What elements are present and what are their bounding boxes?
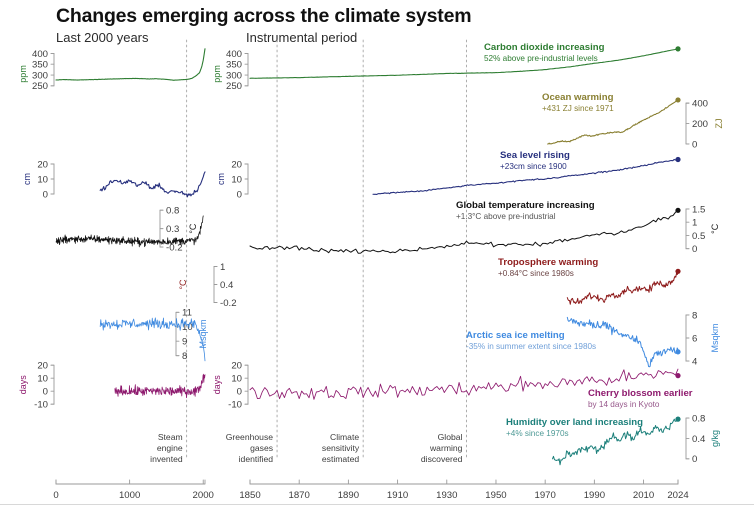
sealevel-endpoint-dot <box>675 157 680 162</box>
co2-line-inst <box>250 49 678 78</box>
event-label-greenhouse-gases: identified <box>239 454 274 464</box>
gmst-unit-right: °C <box>710 223 720 234</box>
event-label-climate-sensitivity: sensitivity <box>322 443 360 453</box>
humidity-tick-label-0: 0.8 <box>692 413 705 424</box>
ocean-annotation-title: Ocean warming <box>542 92 614 103</box>
footer-divider <box>0 504 754 505</box>
cherry-annotation-title: Cherry blossom earlier <box>588 388 693 399</box>
humidity-tick-label-2: 0 <box>692 454 697 465</box>
seaice-right-tick-label-0: 8 <box>692 310 697 321</box>
humidity-tick-label-1: 0.4 <box>692 434 706 445</box>
seaice-annotation-subtitle: -35% in summer extent since 1980s <box>466 342 596 351</box>
event-label-global-warming: discovered <box>421 454 463 464</box>
ocean-endpoint-dot <box>675 97 680 102</box>
xaxis-right-tick-label-9: 2024 <box>667 490 689 501</box>
ocean-tick-label-2: 0 <box>692 139 697 150</box>
gmst-right-tick-label-1: 1 <box>692 218 697 229</box>
climate-multi-panel-plot: SteamengineinventedGreenhousegasesidenti… <box>0 0 754 514</box>
seaice-right-tick-label-2: 4 <box>692 356 698 367</box>
cherry-endpoint-dot <box>675 373 680 378</box>
gmst-left-tick-label-0: 0.8 <box>166 206 179 217</box>
seaice-right-tick-label-1: 6 <box>692 333 697 344</box>
co2-left-tick-label-0: 400 <box>32 49 48 60</box>
xaxis-right-line <box>250 480 678 484</box>
ocean-tick-label-1: 200 <box>692 119 708 130</box>
event-label-steam-engine: Steam <box>158 432 183 442</box>
cherry-unit-left: days <box>18 375 28 395</box>
humidity-unit: g/kg <box>710 430 720 447</box>
co2-unit-left: ppm <box>18 65 28 83</box>
seaice-left-tick-label-1: 10 <box>182 322 193 333</box>
sealevel-annotation-title: Sea level rising <box>500 150 570 161</box>
sealevel-left-tick-label-1: 10 <box>37 174 48 185</box>
event-label-global-warming: warming <box>429 443 463 453</box>
xaxis-left-line <box>56 480 205 484</box>
co2-line-long <box>56 49 205 81</box>
co2-annotation-subtitle: 52% above pre-industrial levels <box>484 54 598 63</box>
xaxis-right-tick-label-1: 1870 <box>289 490 310 501</box>
sealevel-annotation-subtitle: +23cm since 1900 <box>500 162 567 171</box>
sealevel-right-tick-label-1: 10 <box>231 174 242 185</box>
troposphere-unit-left: °C <box>178 279 188 290</box>
seaice-left-tick-label-0: 11 <box>182 308 192 319</box>
co2-right-tick-label-0: 400 <box>226 49 242 60</box>
xaxis-right-tick-label-6: 1970 <box>535 490 556 501</box>
troposphere-left-tick-label-1: 0.4 <box>220 280 234 291</box>
troposphere-left-tick-label-2: -0.2 <box>220 298 237 309</box>
co2-left-tick-label-2: 300 <box>32 70 48 81</box>
co2-unit-right: ppm <box>212 65 222 83</box>
troposphere-endpoint-dot <box>675 269 680 274</box>
humidity-annotation-title: Humidity over land increasing <box>506 417 643 428</box>
xaxis-left-tick-label-1: 1000 <box>119 490 140 501</box>
cherry-right-tick-label-3: -10 <box>228 400 242 411</box>
troposphere-left-tick-label-0: 1 <box>220 262 225 273</box>
xaxis-right-tick-label-3: 1910 <box>387 490 408 501</box>
cherry-left-tick-label-2: 0 <box>43 387 48 398</box>
troposphere-annotation-title: Troposphere warming <box>498 257 598 268</box>
gmst-line-long <box>56 216 203 247</box>
xaxis-right-tick-label-2: 1890 <box>338 490 359 501</box>
cherry-right-tick-label-0: 20 <box>231 361 242 372</box>
ocean-tick-label-0: 400 <box>692 99 708 110</box>
co2-right-tick-label-3: 250 <box>226 81 242 92</box>
cherry-right-axis-line <box>245 365 248 404</box>
gmst-annotation-subtitle: +1.3°C above pre-industrial <box>456 212 556 221</box>
xaxis-right-tick-label-5: 1950 <box>485 490 506 501</box>
chart-canvas: Changes emerging across the climate syst… <box>0 0 754 514</box>
seaice-left-tick-label-2: 9 <box>182 337 187 348</box>
sealevel-line-long <box>100 172 205 197</box>
event-label-greenhouse-gases: gases <box>250 443 273 453</box>
event-label-steam-engine: invented <box>150 454 183 464</box>
cherry-left-tick-label-1: 10 <box>37 374 48 385</box>
troposphere-line <box>567 273 678 304</box>
humidity-endpoint-dot <box>675 417 680 422</box>
humidity-annotation-subtitle: +4% since 1970s <box>506 429 569 438</box>
cherry-left-tick-label-3: -10 <box>34 400 48 411</box>
sealevel-unit-left: cm <box>22 173 32 185</box>
co2-annotation-title: Carbon dioxide increasing <box>484 42 605 53</box>
event-label-climate-sensitivity: Climate <box>330 432 359 442</box>
co2-endpoint-dot <box>675 46 680 51</box>
cherry-line-long <box>115 374 205 398</box>
gmst-right-tick-label-0: 1.5 <box>692 204 705 215</box>
sealevel-left-tick-label-2: 0 <box>43 189 48 200</box>
co2-right-tick-label-1: 350 <box>226 60 242 71</box>
sealevel-right-tick-label-2: 0 <box>237 189 242 200</box>
gmst-unit-left: °C <box>188 223 198 234</box>
xaxis-right-tick-label-0: 1850 <box>239 490 260 501</box>
seaice-unit-right: Msqkm <box>710 324 720 353</box>
co2-right-tick-label-2: 300 <box>226 70 242 81</box>
sealevel-unit-right: cm <box>216 173 226 185</box>
xaxis-right-tick-label-8: 2010 <box>633 490 654 501</box>
co2-left-axis-line <box>51 53 54 85</box>
cherry-annotation-subtitle: by 14 days in Kyoto <box>588 400 660 409</box>
xaxis-right-tick-label-7: 1990 <box>584 490 605 501</box>
seaice-endpoint-dot <box>675 349 680 354</box>
event-label-climate-sensitivity: estimated <box>322 454 359 464</box>
co2-left-tick-label-3: 250 <box>32 81 48 92</box>
seaice-annotation-title: Arctic sea ice melting <box>466 330 565 341</box>
troposphere-annotation-subtitle: +0.84°C since 1980s <box>498 269 574 278</box>
gmst-right-tick-label-2: 0.5 <box>692 231 705 242</box>
cherry-left-tick-label-0: 20 <box>37 361 48 372</box>
seaice-left-tick-label-3: 8 <box>182 351 187 362</box>
event-label-global-warming: Global <box>438 432 463 442</box>
ocean-annotation-subtitle: +431 ZJ since 1971 <box>542 104 614 113</box>
xaxis-right-tick-label-4: 1930 <box>436 490 457 501</box>
cherry-left-axis-line <box>51 365 54 404</box>
gmst-right-axis-line <box>686 209 689 249</box>
gmst-right-tick-label-3: 0 <box>692 244 697 255</box>
co2-right-axis-line <box>245 53 248 85</box>
co2-left-tick-label-1: 350 <box>32 60 48 71</box>
gmst-annotation-title: Global temperature increasing <box>456 200 595 211</box>
gmst-left-tick-label-1: 0.3 <box>166 224 179 235</box>
xaxis-left-tick-label-2: 2000 <box>193 490 214 501</box>
xaxis-left-tick-label-0: 0 <box>53 490 58 501</box>
cherry-right-tick-label-2: 0 <box>237 387 242 398</box>
gmst-endpoint-dot <box>675 208 680 213</box>
ocean-unit: ZJ <box>714 119 724 129</box>
cherry-unit-right: days <box>212 375 222 395</box>
cherry-right-tick-label-1: 10 <box>231 374 242 385</box>
event-label-steam-engine: engine <box>157 443 183 453</box>
event-label-greenhouse-gases: Greenhouse <box>226 432 274 442</box>
seaice-line-long <box>100 318 205 361</box>
sealevel-right-tick-label-0: 20 <box>231 159 242 170</box>
sealevel-left-tick-label-0: 20 <box>37 159 48 170</box>
